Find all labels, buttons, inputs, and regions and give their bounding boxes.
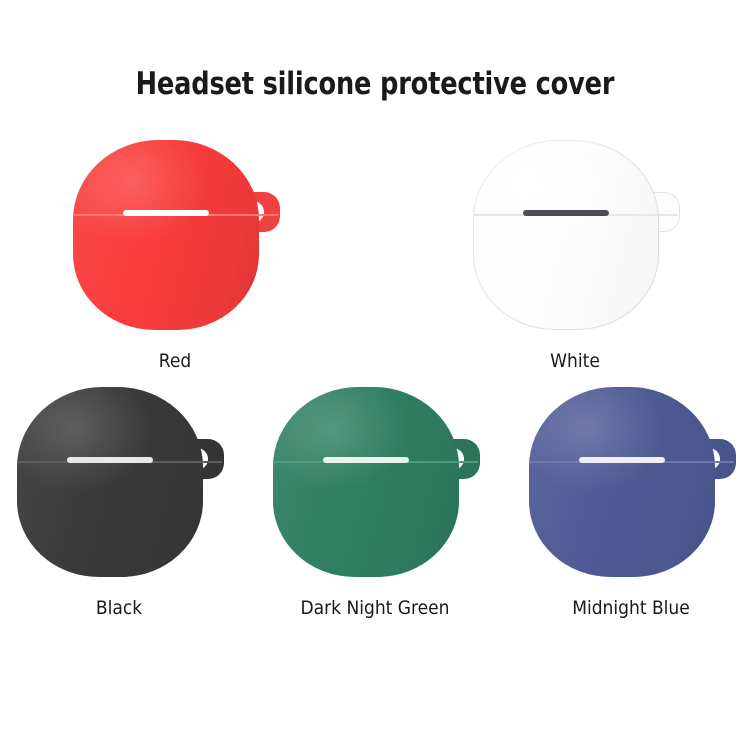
product-swatch-dark-night-green[interactable]: Dark Night Green — [256, 387, 494, 619]
product-swatch-white[interactable]: White — [450, 140, 700, 372]
product-color-label: Red — [159, 350, 191, 372]
case-body — [473, 140, 659, 330]
case-lid-slot — [123, 210, 209, 216]
product-color-label: Dark Night Green — [300, 597, 449, 619]
product-color-label: Midnight Blue — [572, 597, 690, 619]
case-image-dark-night-green — [273, 387, 478, 577]
case-image-midnight-blue — [529, 387, 734, 577]
product-swatch-red[interactable]: Red — [50, 140, 300, 372]
case-body — [73, 140, 259, 330]
product-swatch-midnight-blue[interactable]: Midnight Blue — [512, 387, 750, 619]
case-lid-slot — [323, 457, 409, 463]
case-image-black — [17, 387, 222, 577]
case-image-white — [473, 140, 678, 330]
product-row-bottom: Black Dark Night Green Midnigh — [0, 387, 750, 619]
product-color-label: Black — [96, 597, 142, 619]
case-image-red — [73, 140, 278, 330]
product-row-top: Red White — [0, 140, 750, 372]
case-lid-slot — [579, 457, 665, 463]
case-lid-slot — [67, 457, 153, 463]
case-body — [529, 387, 715, 577]
product-swatch-black[interactable]: Black — [0, 387, 238, 619]
product-color-label: White — [550, 350, 600, 372]
product-grid: Red White Black — [0, 140, 750, 619]
case-lid-slot — [523, 210, 609, 216]
case-body — [17, 387, 203, 577]
case-body — [273, 387, 459, 577]
page-title: Headset silicone protective cover — [30, 66, 720, 102]
product-color-chart: Headset silicone protective cover Red — [0, 0, 750, 750]
